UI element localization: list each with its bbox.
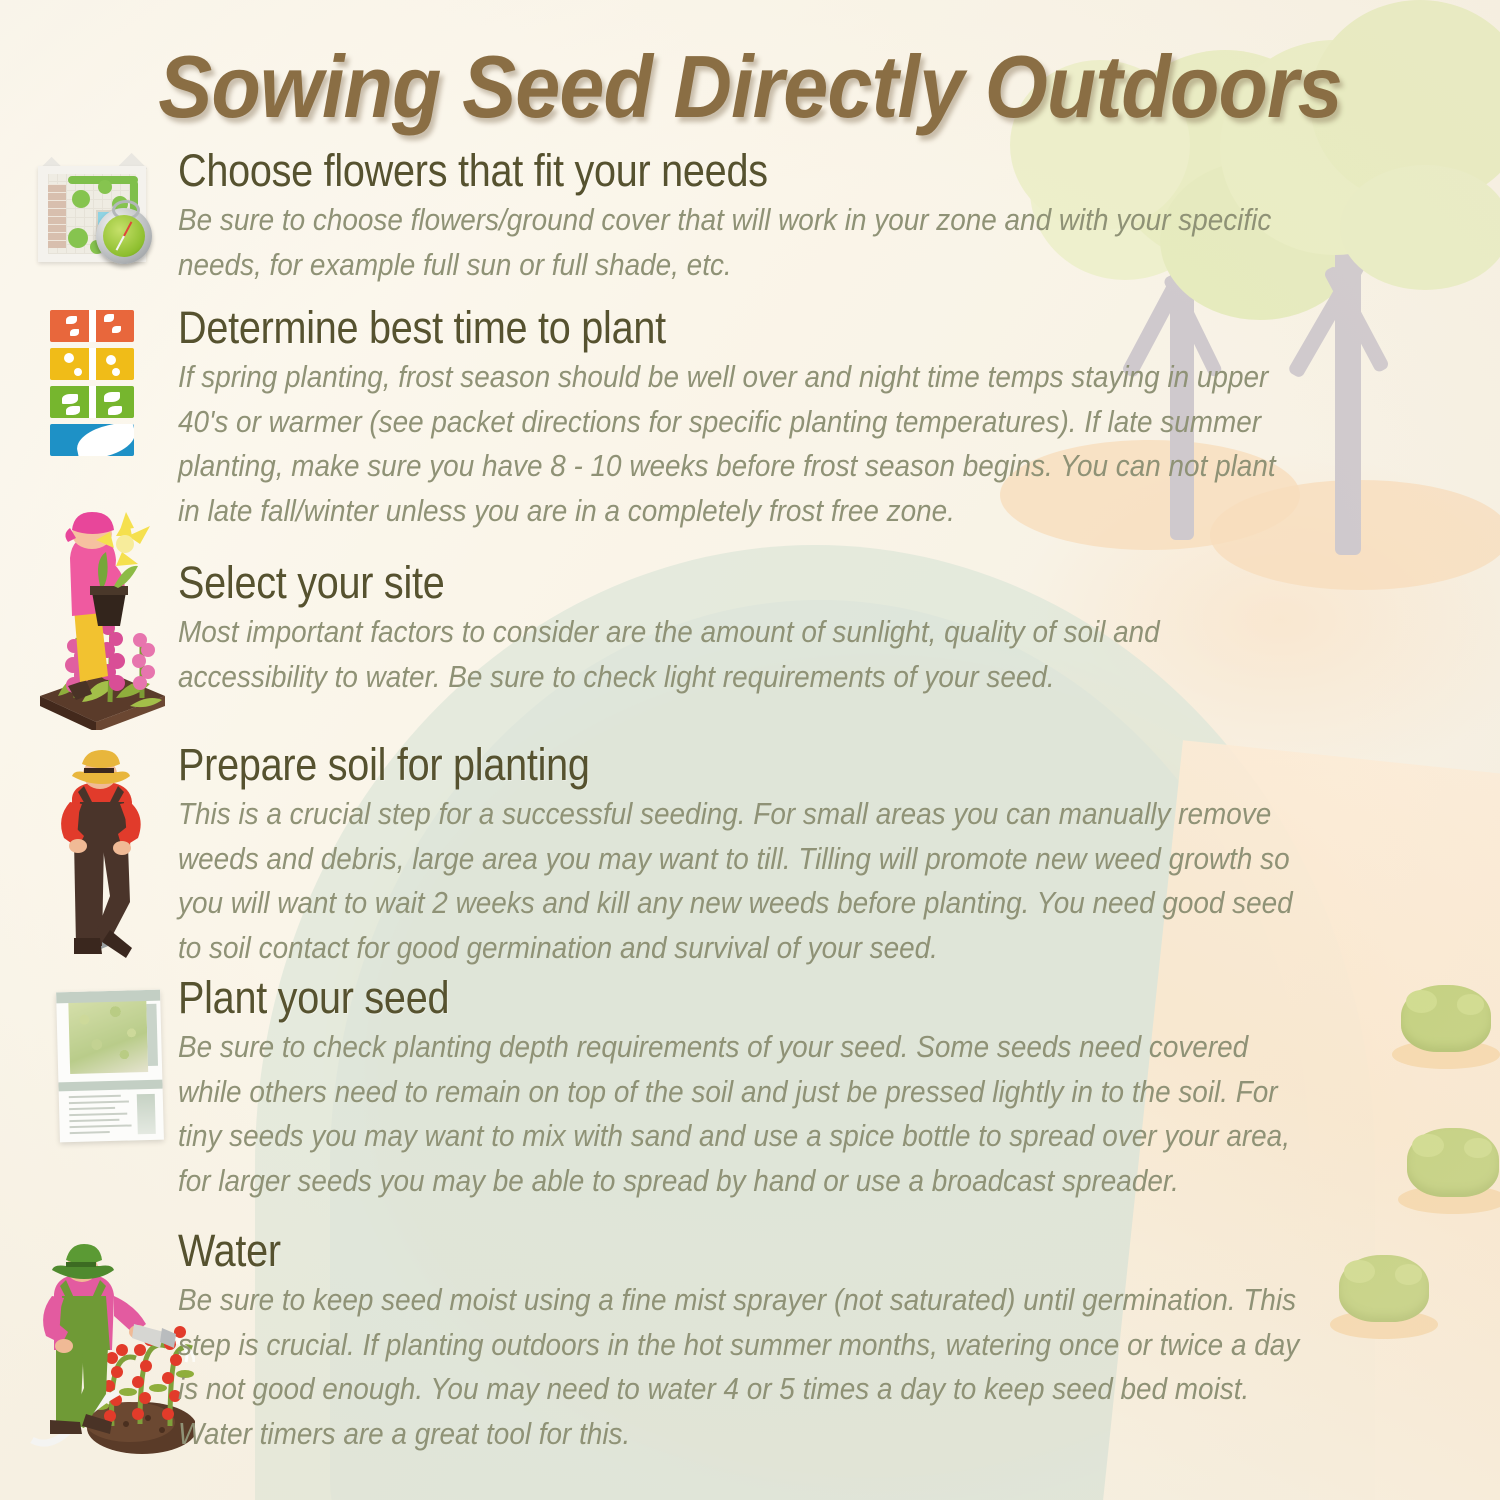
four-seasons-tree-icon (50, 310, 140, 458)
step-item: Determine best time to plant If spring p… (0, 305, 90, 453)
seed-packet-icon (48, 985, 178, 1150)
step-body: Be sure to choose flowers/ground cover t… (178, 198, 1312, 287)
step-body: Be sure to check planting depth requirem… (178, 1025, 1317, 1204)
garden-plan-compass-icon (34, 156, 159, 281)
step-title: Choose flowers that fit your needs (178, 148, 1287, 194)
step-body: Be sure to keep seed moist using a fine … (178, 1278, 1317, 1457)
step-body: This is a crucial step for a successful … (178, 792, 1303, 971)
step-title: Determine best time to plant (178, 305, 1278, 351)
step-title: Prepare soil for planting (178, 742, 1278, 788)
step-title: Plant your seed (178, 975, 1291, 1021)
steps-list: Choose flowers that fit your needs Be su… (0, 0, 1500, 1500)
infographic-poster: Sowing Seed Directly Outdoors (0, 0, 1500, 1500)
step-item: Plant your seed Be sure to check plantin… (0, 975, 130, 1140)
step-title: Water (178, 1228, 1291, 1274)
step-body: Most important factors to consider are t… (178, 610, 1303, 699)
step-item: Choose flowers that fit your needs Be su… (0, 148, 125, 273)
gardener-with-potted-flower-icon (30, 500, 170, 730)
step-body: If spring planting, frost season should … (178, 355, 1303, 534)
step-title: Select your site (178, 560, 1278, 606)
gardener-watering-hose-icon (30, 1228, 195, 1463)
farmer-digging-with-shovel-icon (34, 742, 169, 967)
